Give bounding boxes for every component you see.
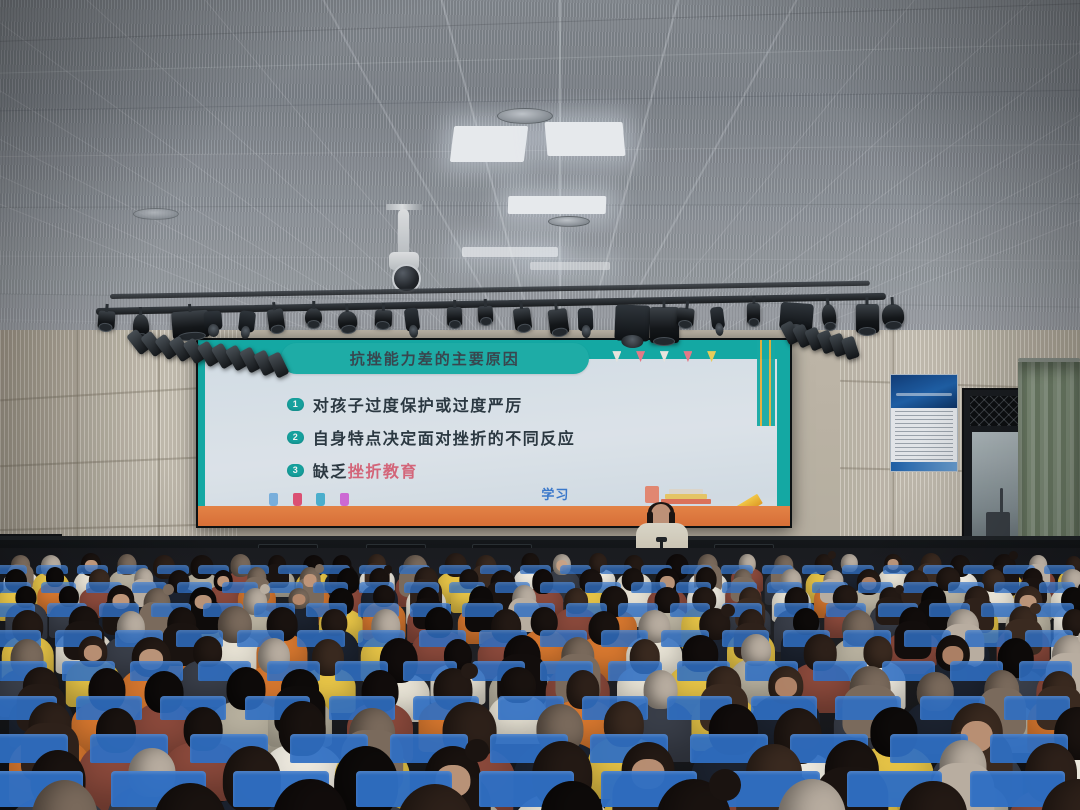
- audience-head: [272, 779, 347, 810]
- bullet-text: 缺乏挫折教育: [313, 458, 418, 482]
- stage-spotlight-icon: [746, 303, 760, 324]
- ceiling-panel-light: [530, 262, 610, 270]
- audience-member: [370, 784, 500, 810]
- auditorium-photo: 抗挫能力差的主要原因 1 对孩子过度保护或过度严厉 2 自身特点决定面对挫折的不…: [0, 0, 1080, 810]
- stage-spotlight-icon: [881, 303, 904, 327]
- audience-hair-bun: [315, 564, 324, 573]
- light-yoke: [518, 301, 522, 309]
- light-lens: [653, 337, 675, 346]
- stage-spotlight-icon: [650, 307, 679, 343]
- light-yoke: [825, 297, 829, 305]
- cup-icon: [340, 493, 349, 506]
- light-yoke: [138, 307, 141, 315]
- audience-head: [396, 784, 474, 810]
- audience-face: [84, 645, 102, 661]
- audience-face: [775, 677, 797, 697]
- light-yoke: [663, 300, 666, 308]
- audience-face: [293, 594, 306, 605]
- cup-icon: [293, 493, 302, 506]
- stage-spotlight-icon: [855, 304, 878, 333]
- stage-spotlight-icon: [305, 308, 322, 327]
- ceiling-panel-light: [545, 122, 626, 156]
- stage-spotlight-icon: [446, 307, 461, 326]
- moving-head-light-icon: [203, 310, 222, 330]
- light-yoke: [865, 297, 868, 305]
- bullet-text: 对孩子过度保护或过度严厉: [313, 392, 523, 416]
- ceiling-panel-light: [508, 196, 607, 214]
- audience-seating-area: [0, 548, 1080, 810]
- light-yoke: [752, 296, 755, 304]
- light-lens: [448, 320, 461, 329]
- cup-icon: [316, 493, 325, 506]
- audience-head: [154, 783, 227, 810]
- audience-hair-bun: [1009, 551, 1018, 560]
- light-yoke: [382, 303, 385, 311]
- wall-poster: [890, 374, 958, 472]
- slide-bullet-list: 1 对孩子过度保护或过度严厉 2 自身特点决定面对挫折的不同反应 3 缺乏挫折教…: [287, 392, 755, 491]
- light-yoke: [483, 299, 486, 307]
- slide-stripe-decor: [757, 340, 775, 426]
- bullet-number-badge: 2: [287, 431, 304, 444]
- slide-right-border: [777, 340, 790, 526]
- slide-decor-word: 学习: [541, 484, 569, 503]
- audience-head: [32, 780, 99, 810]
- ceiling-speaker: [497, 108, 553, 124]
- slide-title: 抗挫能力差的主要原因: [350, 348, 520, 369]
- light-yoke: [272, 302, 276, 310]
- poster-footer: [891, 462, 957, 471]
- audience-hair-bun: [260, 584, 270, 594]
- stage-spotlight-icon: [266, 308, 285, 332]
- book-icon: [669, 489, 703, 494]
- light-yoke: [685, 301, 689, 309]
- slide-bullet-item: 3 缺乏挫折教育: [287, 458, 755, 482]
- light-yoke: [312, 301, 315, 309]
- slide-left-border: [198, 340, 205, 511]
- audience-head: [541, 781, 603, 810]
- stage-spotlight-icon: [547, 307, 569, 335]
- stage-spotlight-icon: [98, 310, 116, 329]
- audience-hair-bun: [163, 584, 174, 595]
- audience-hair-bun: [384, 565, 392, 573]
- pen-cup-icon: [645, 486, 659, 503]
- ceiling-speaker: [548, 216, 590, 227]
- stage-spotlight-icon: [477, 306, 493, 324]
- camera-pole: [398, 209, 409, 257]
- audience-head: [899, 781, 967, 810]
- stage-spotlight-icon: [374, 310, 392, 328]
- stacked-books-icon: [661, 488, 713, 504]
- poster-header: [891, 375, 957, 408]
- ceiling-speaker: [133, 208, 179, 220]
- light-lens: [748, 318, 759, 327]
- slide-bullet-item: 1 对孩子过度保护或过度严厉: [287, 392, 755, 416]
- light-yoke: [452, 300, 455, 308]
- audience-member: [877, 781, 989, 810]
- audience-member: [512, 781, 631, 810]
- light-lens: [99, 321, 113, 331]
- audience-member: [628, 779, 760, 810]
- moving-head-light-icon: [238, 310, 256, 332]
- slide-bottom-band: [198, 506, 790, 526]
- audience-head: [1041, 779, 1080, 810]
- mic-stand-in-doorway: [1000, 488, 1003, 514]
- light-yoke: [344, 304, 348, 312]
- bullet-number-badge: 1: [287, 398, 304, 411]
- poster-body-text: [895, 411, 953, 461]
- light-yoke: [890, 297, 893, 305]
- audience-hair-bun: [465, 739, 489, 763]
- bullet-text-highlight: 挫折教育: [348, 462, 418, 481]
- bullet-text: 自身特点决定面对挫折的不同反应: [313, 425, 576, 449]
- audience-member: [247, 779, 373, 810]
- audience-member: [747, 779, 878, 810]
- moving-head-light-icon: [614, 304, 651, 342]
- ceiling-panel-light: [450, 126, 528, 162]
- stage-spotlight-icon: [676, 307, 695, 326]
- slide-title-pill: 抗挫能力差的主要原因: [281, 343, 589, 375]
- slide-bullet-item: 2 自身特点决定面对挫折的不同反应: [287, 425, 755, 449]
- stage-spotlight-icon: [512, 307, 532, 331]
- audience-hair-bun: [461, 663, 477, 679]
- audience-head: [778, 779, 846, 810]
- audience-hair-bun: [1030, 603, 1042, 615]
- cup-icon: [269, 493, 278, 506]
- book-icon: [665, 494, 707, 499]
- audience-member: [127, 783, 253, 810]
- audience-member: [7, 780, 124, 810]
- ceiling-panel-light: [462, 247, 558, 257]
- light-lens: [479, 317, 492, 327]
- light-lens: [858, 327, 876, 336]
- audience-hair-bun: [895, 585, 904, 594]
- bullet-text-plain: 缺乏: [313, 462, 348, 481]
- bullet-number-badge: 3: [287, 464, 304, 477]
- audience-member: [1012, 779, 1080, 810]
- moving-head-light-icon: [577, 307, 593, 330]
- audience-hair-bun: [709, 769, 741, 801]
